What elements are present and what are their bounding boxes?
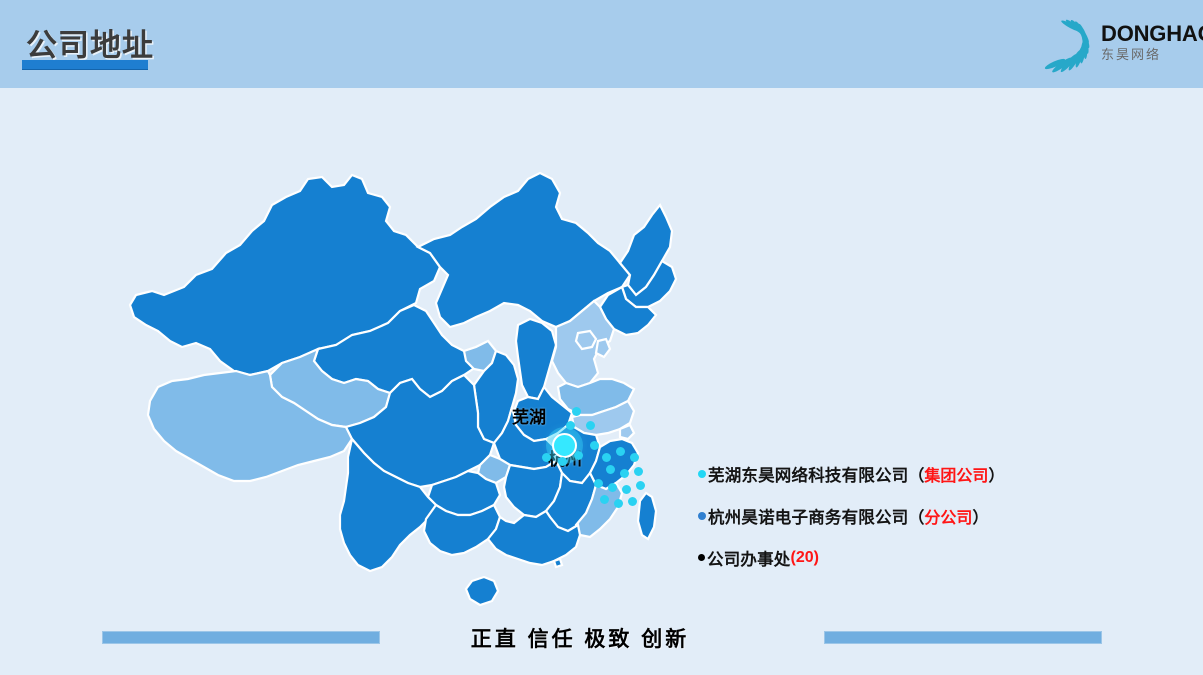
office-marker[interactable] [622, 485, 631, 494]
office-marker[interactable] [574, 451, 583, 460]
legend-item-group-company: 芜湖东昊网络科技有限公司 （ 集团公司 ） [698, 462, 1118, 485]
office-marker[interactable] [566, 421, 575, 430]
legend-label: 公司办事处 [707, 546, 791, 570]
legend-item-branch-company: 杭州昊诺电子商务有限公司 （ 分公司 ） [698, 504, 1118, 527]
legend-bullet-icon [698, 512, 706, 520]
logo-name: DONGHAO [1101, 22, 1197, 46]
legend-open-paren: （ [908, 504, 924, 528]
legend-accent-text: (20) [791, 549, 819, 567]
legend-label: 杭州昊诺电子商务有限公司 [708, 504, 908, 528]
legend-close-paren: ） [988, 462, 1004, 486]
office-marker[interactable] [572, 407, 581, 416]
company-logo: DONGHAO 东昊网络 [1005, 8, 1195, 80]
legend-accent-text: 分公司 [924, 504, 972, 528]
office-marker[interactable] [636, 481, 645, 490]
office-marker[interactable] [634, 467, 643, 476]
page-title: 公司地址 [26, 20, 154, 65]
logo-subtitle: 东昊网络 [1101, 47, 1197, 63]
legend: 芜湖东昊网络科技有限公司 （ 集团公司 ） 杭州昊诺电子商务有限公司 （ 分公司… [698, 462, 1118, 588]
legend-open-paren: （ [908, 462, 924, 486]
footer-slogan: 正直 信任 极致 创新 [455, 623, 705, 653]
office-marker[interactable] [586, 421, 595, 430]
office-marker[interactable] [542, 453, 551, 462]
fan-feather-logo-icon [1037, 12, 1105, 76]
legend-accent-text: 集团公司 [924, 462, 988, 486]
office-marker[interactable] [608, 483, 617, 492]
slide-canvas: 公司地址 [0, 0, 1203, 675]
legend-label: 芜湖东昊网络科技有限公司 [708, 462, 908, 486]
office-marker[interactable] [590, 441, 599, 450]
legend-item-offices: 公司办事处 (20) [698, 546, 1118, 569]
footer-bar-left [102, 631, 380, 644]
office-marker[interactable] [600, 495, 609, 504]
office-marker[interactable] [594, 479, 603, 488]
office-marker[interactable] [602, 453, 611, 462]
office-marker[interactable] [620, 469, 629, 478]
office-marker[interactable] [606, 465, 615, 474]
office-marker[interactable] [630, 453, 639, 462]
office-marker[interactable] [558, 457, 567, 466]
legend-close-paren: ） [972, 504, 988, 528]
legend-bullet-icon [698, 554, 705, 561]
china-map: 芜湖 杭州 [100, 135, 680, 615]
title-underline-bar [22, 60, 148, 70]
logo-wordmark: DONGHAO 东昊网络 [1101, 22, 1197, 63]
office-marker-layer [100, 135, 680, 615]
office-marker[interactable] [628, 497, 637, 506]
legend-bullet-icon [698, 470, 706, 478]
office-marker[interactable] [614, 499, 623, 508]
footer-bar-right [824, 631, 1102, 644]
office-marker[interactable] [616, 447, 625, 456]
slide-header: 公司地址 [0, 0, 1203, 88]
